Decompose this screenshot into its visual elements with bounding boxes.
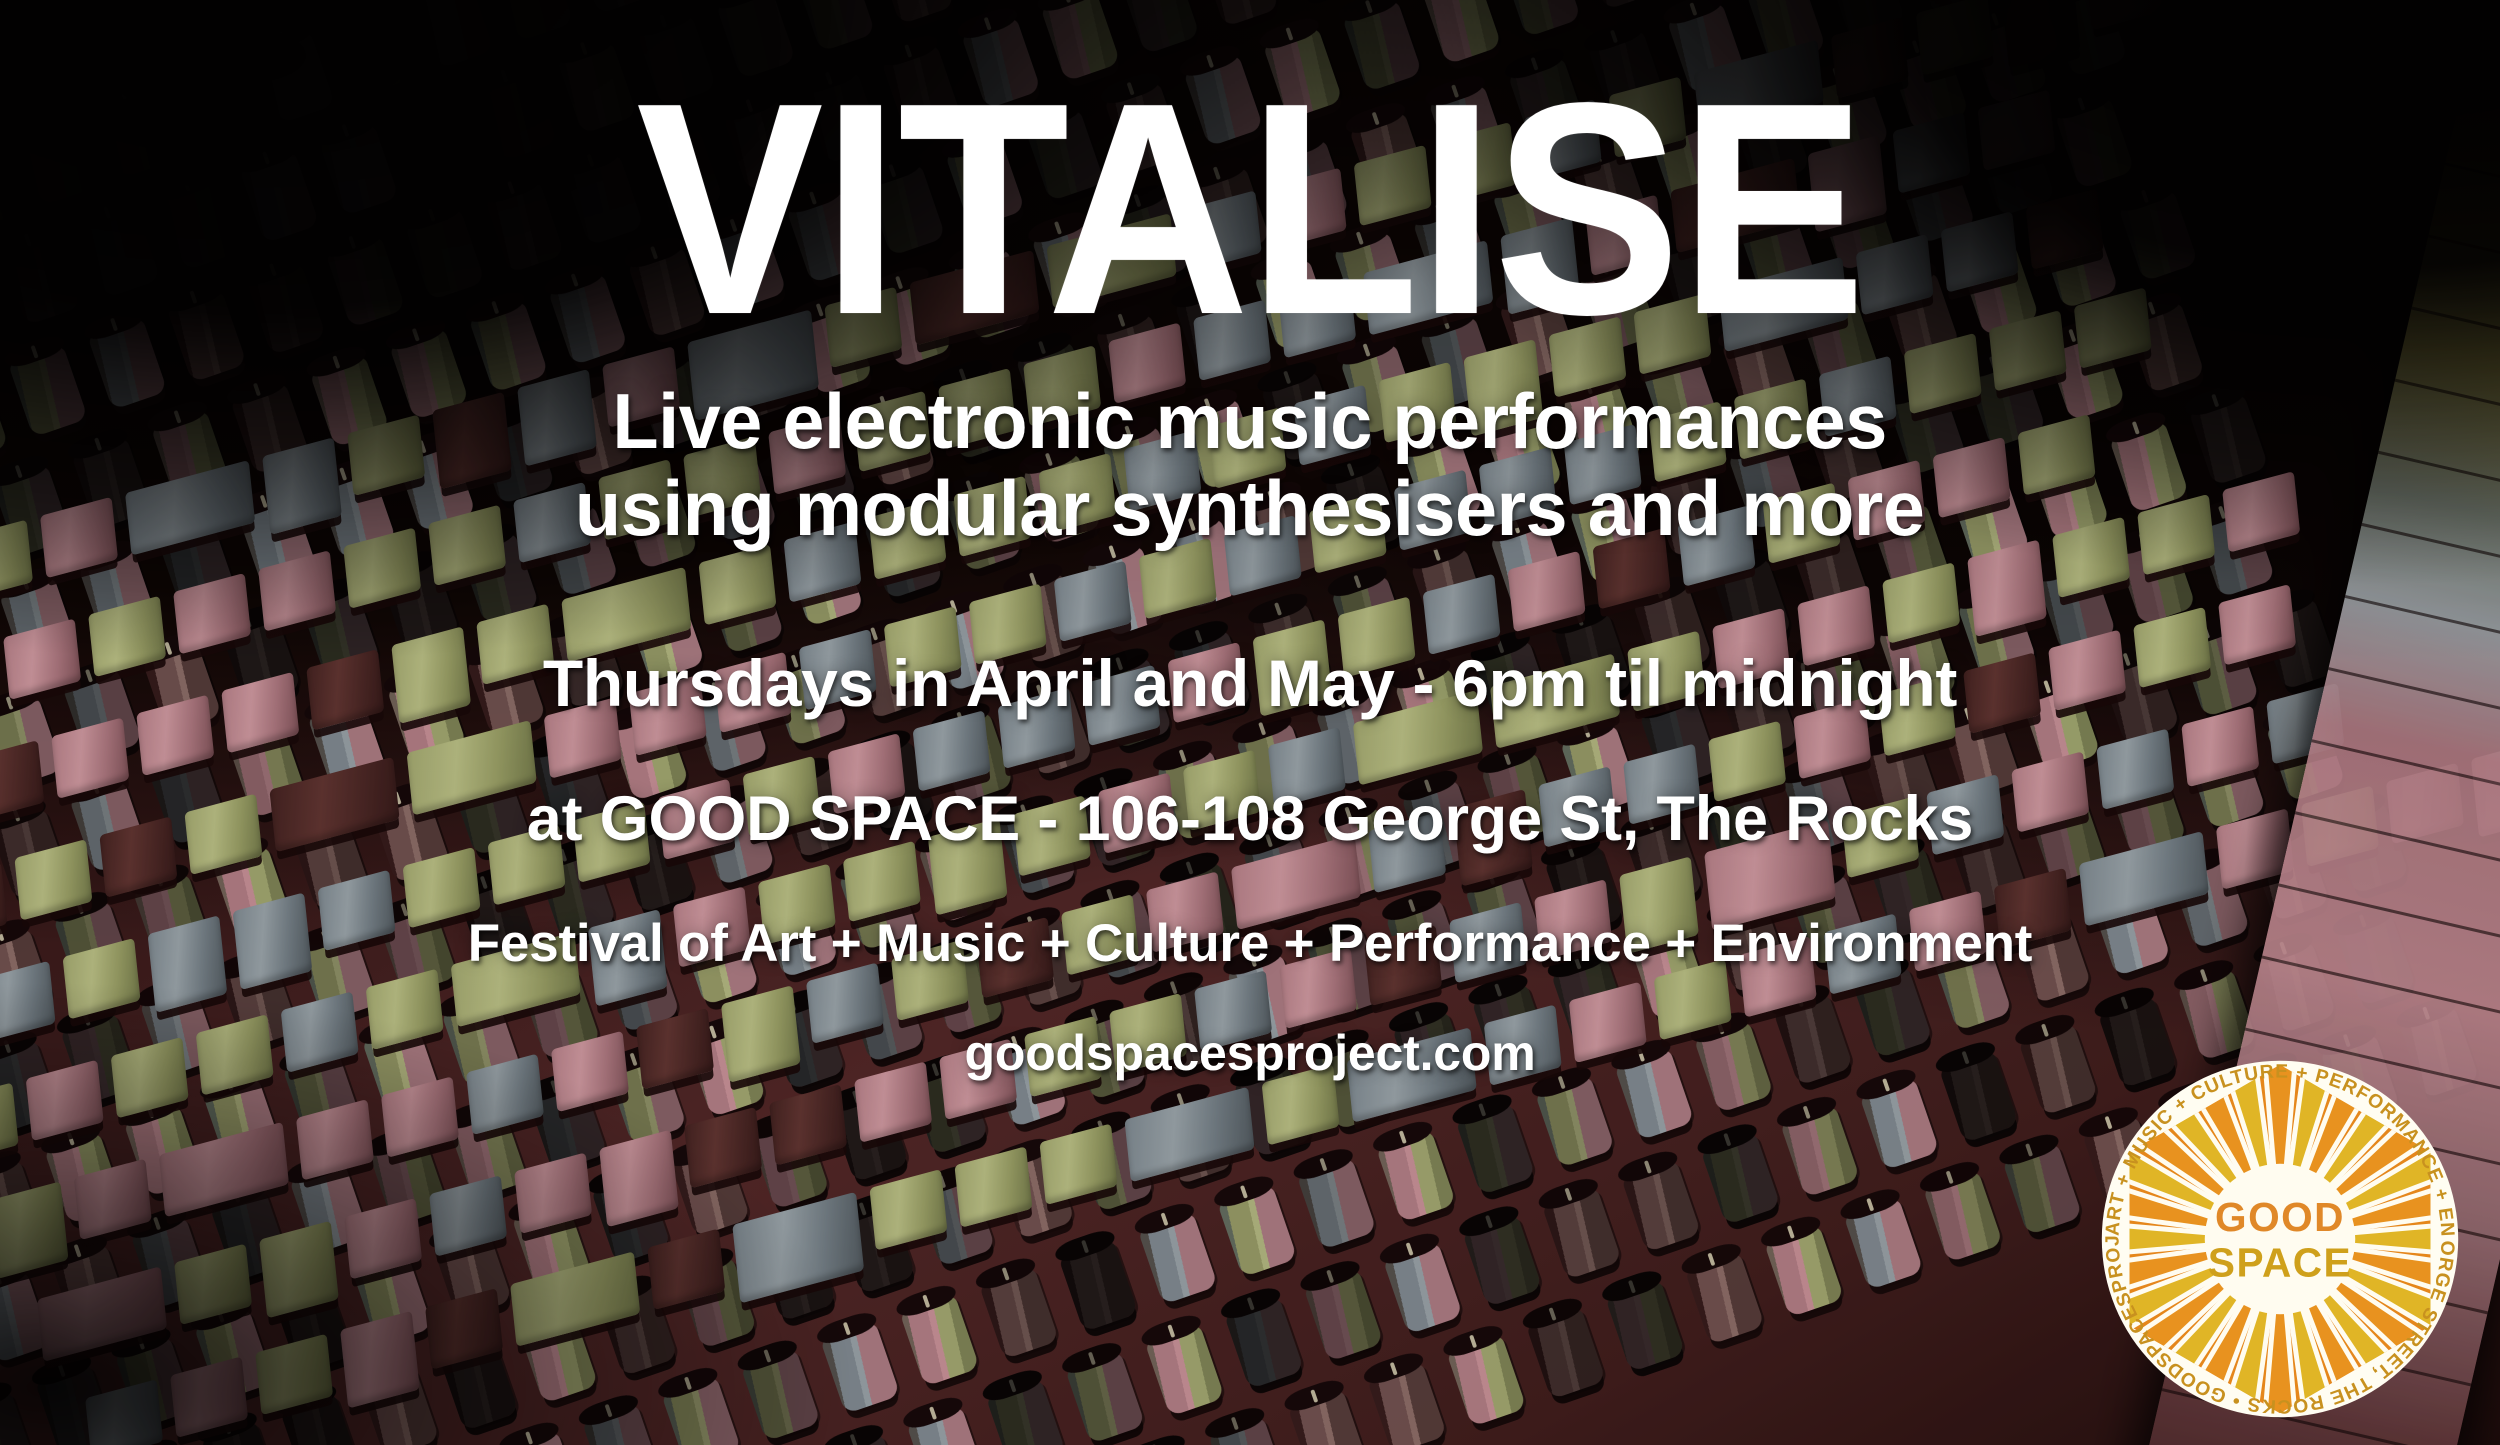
poster-canvas: VITALISE Live electronic music performan… (0, 0, 2500, 1445)
website-url[interactable]: goodspacesproject.com (965, 1024, 1536, 1082)
event-venue-address: at GOOD SPACE - 106-108 George St, The R… (527, 783, 1973, 855)
event-schedule: Thursdays in April and May - 6pm til mid… (543, 645, 1957, 721)
good-space-logo-icon: GOOD SPACE FESTIVAL OF ART + MUSIC + CUL… (2082, 1041, 2478, 1437)
subtitle-line-2: using modular synthesisers and more (575, 465, 1924, 552)
festival-tagline: Festival of Art + Music + Culture + Perf… (468, 913, 2033, 974)
subtitle-line-1: Live electronic music performances (613, 377, 1887, 465)
subtitle-block: Live electronic music performances using… (575, 378, 1924, 553)
logo-word-space: SPACE (2208, 1240, 2352, 1286)
logo-word-good: GOOD (2215, 1194, 2345, 1240)
page-title: VITALISE (636, 70, 1864, 348)
good-space-logo[interactable]: GOOD SPACE FESTIVAL OF ART + MUSIC + CUL… (2082, 1041, 2478, 1437)
